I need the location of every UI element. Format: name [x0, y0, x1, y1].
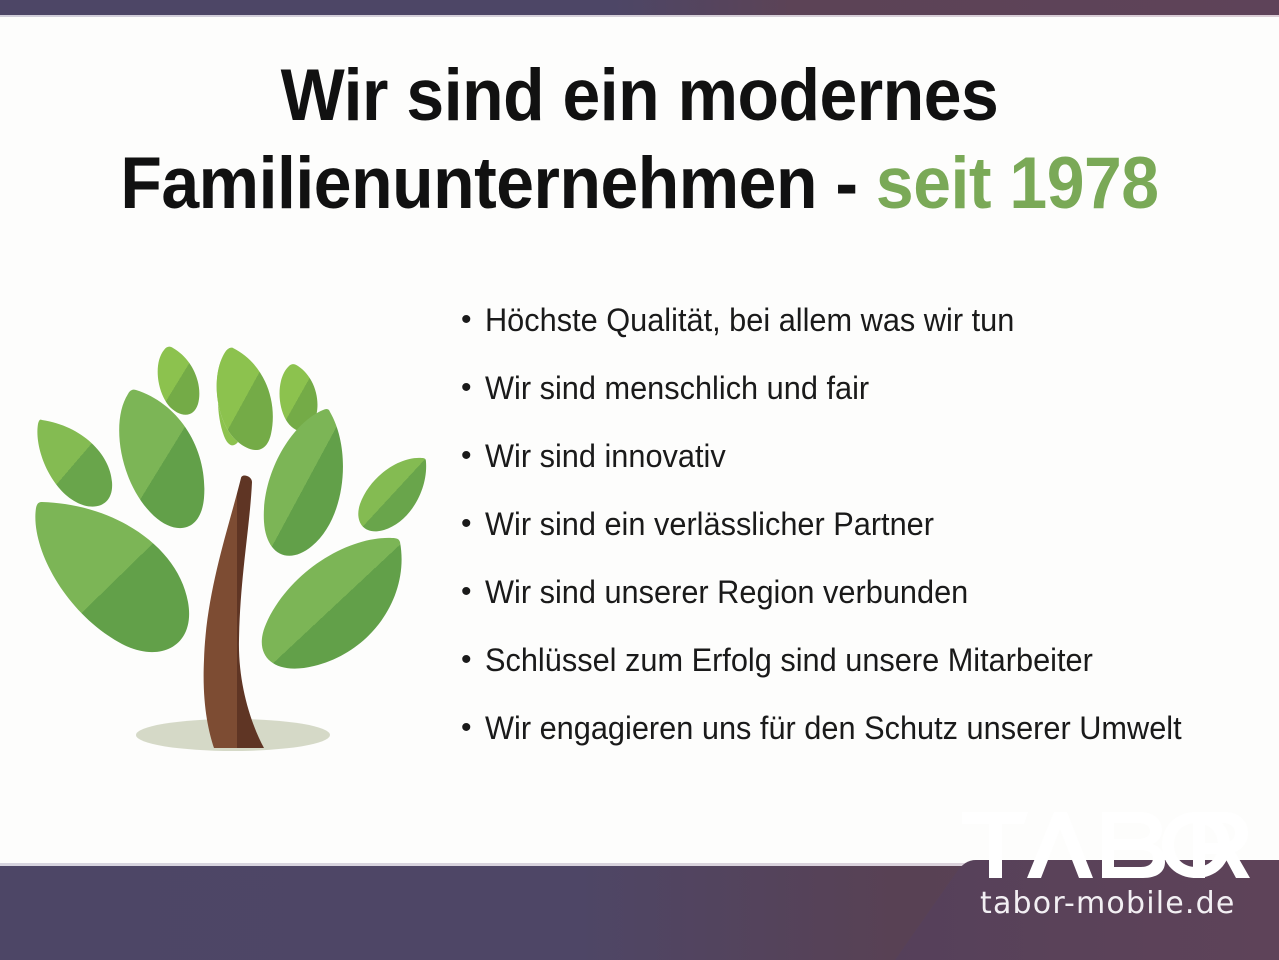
list-item-label: Höchste Qualität, bei allem was wir tun	[485, 300, 1014, 340]
tree-logo	[28, 330, 440, 762]
bullet-icon: •	[455, 504, 485, 544]
brand-tagline: tabor-mobile.de	[962, 886, 1262, 922]
bullet-icon: •	[455, 368, 485, 408]
page-title: Wir sind ein modernes Familienunternehme…	[45, 52, 1234, 228]
bullet-icon: •	[455, 708, 485, 748]
bullet-icon: •	[455, 300, 485, 340]
tree-leaf-top-center	[217, 348, 273, 450]
list-item: • Höchste Qualität, bei allem was wir tu…	[455, 300, 1265, 368]
list-item-label: Schlüssel zum Erfolg sind unsere Mitarbe…	[485, 640, 1093, 680]
list-item: • Wir sind innovativ	[455, 436, 1265, 504]
slide-canvas: Wir sind ein modernes Familienunternehme…	[0, 0, 1279, 960]
list-item-label: Wir sind menschlich und fair	[485, 368, 869, 408]
bullet-icon: •	[455, 572, 485, 612]
value-list: • Höchste Qualität, bei allem was wir tu…	[455, 300, 1265, 776]
list-item-label: Wir sind innovativ	[485, 436, 726, 476]
list-item-label: Wir sind ein verlässlicher Partner	[485, 504, 934, 544]
brand-lockup: tabor-mobile.de	[962, 812, 1262, 922]
tree-leaf-top-left	[158, 347, 200, 415]
top-accent-bar-highlight	[0, 15, 1279, 17]
brand-wordmark	[962, 812, 1262, 880]
list-item: • Wir sind menschlich und fair	[455, 368, 1265, 436]
page-title-accent: seit 1978	[876, 143, 1159, 224]
tree-trunk	[204, 475, 264, 748]
page-title-line-2-black: Familienunternehmen -	[120, 143, 876, 224]
page-title-line-2: Familienunternehmen - seit 1978	[45, 140, 1234, 228]
tree-leaf-lower-right	[262, 538, 402, 669]
list-item: • Schlüssel zum Erfolg sind unsere Mitar…	[455, 640, 1265, 708]
list-item: • Wir engagieren uns für den Schutz unse…	[455, 708, 1265, 776]
top-accent-bar	[0, 0, 1279, 15]
tree-leaf-upper-right	[264, 409, 343, 556]
list-item-label: Wir engagieren uns für den Schutz unsere…	[485, 708, 1182, 748]
bullet-icon: •	[455, 640, 485, 680]
list-item-label: Wir sind unserer Region verbunden	[485, 572, 968, 612]
tree-leaf-left-small	[37, 420, 112, 507]
page-title-line-1: Wir sind ein modernes	[45, 52, 1234, 140]
tree-leaf-right-small	[358, 458, 426, 532]
list-item: • Wir sind unserer Region verbunden	[455, 572, 1265, 640]
tree-leaf-lower-left	[35, 502, 189, 652]
list-item: • Wir sind ein verlässlicher Partner	[455, 504, 1265, 572]
bullet-icon: •	[455, 436, 485, 476]
